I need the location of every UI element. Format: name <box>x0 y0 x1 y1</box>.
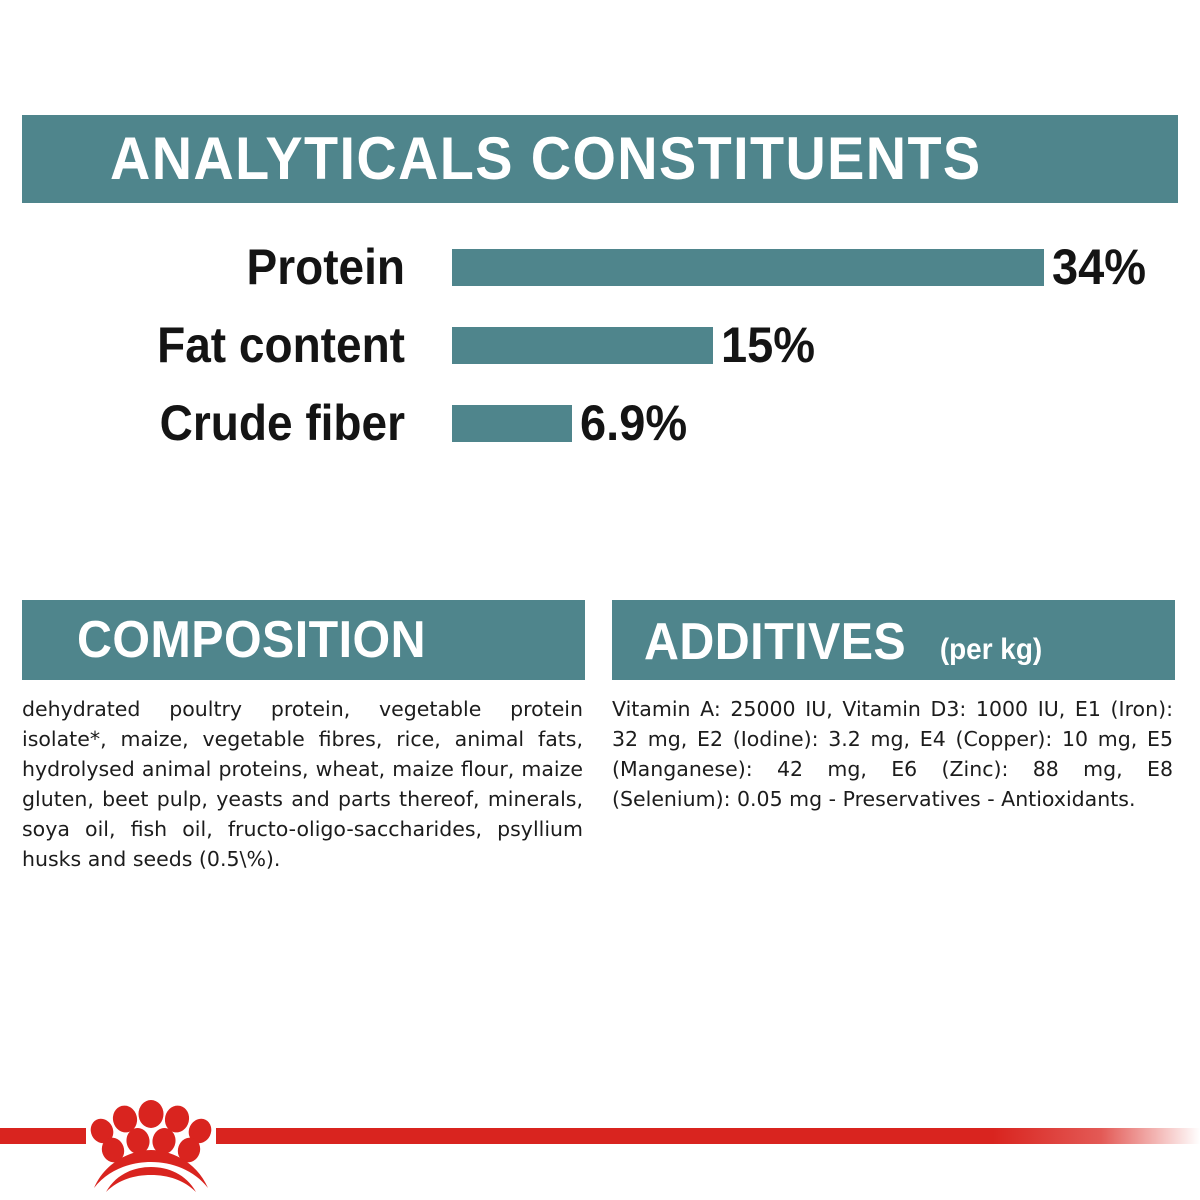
bar-row: Crude fiber 6.9% <box>0 396 1200 450</box>
page-title: ANALYTICALS CONSTITUENTS <box>110 129 982 189</box>
additives-panel: ADDITIVES (per kg) Vitamin A: 25000 IU, … <box>612 600 1175 874</box>
additives-header: ADDITIVES (per kg) <box>612 600 1175 680</box>
analyticals-constituents-banner: ANALYTICALS CONSTITUENTS <box>22 115 1178 203</box>
bar-track: 6.9% <box>452 398 694 448</box>
additives-text: Vitamin A: 25000 IU, Vitamin D3: 1000 IU… <box>612 694 1175 814</box>
info-panels: COMPOSITION dehydrated poultry protein, … <box>22 600 1178 874</box>
additives-subheading: (per kg) <box>940 635 1042 665</box>
bar-value-fat-content: 15% <box>721 320 815 370</box>
royal-canin-crown-icon <box>86 1100 216 1192</box>
footer-rule-left <box>0 1128 86 1144</box>
bar-value-protein: 34% <box>1052 242 1146 292</box>
bar-value-crude-fiber: 6.9% <box>580 398 687 448</box>
brand-footer <box>0 1100 1200 1200</box>
analyticals-bar-chart: Protein 34% Fat content 15% Crude fiber … <box>0 240 1200 474</box>
composition-text: dehydrated poultry protein, vegetable pr… <box>22 694 585 874</box>
bar-fill-protein <box>452 249 1044 286</box>
composition-heading: COMPOSITION <box>77 614 426 666</box>
bar-track: 34% <box>452 242 1152 292</box>
bar-track: 15% <box>452 320 821 370</box>
bar-row: Protein 34% <box>0 240 1200 294</box>
bar-fill-crude-fiber <box>452 405 572 442</box>
composition-panel: COMPOSITION dehydrated poultry protein, … <box>22 600 585 874</box>
composition-header: COMPOSITION <box>22 600 585 680</box>
bar-label-crude-fiber: Crude fiber <box>32 398 405 448</box>
footer-rule-right <box>216 1128 1200 1144</box>
bar-label-protein: Protein <box>32 242 405 292</box>
additives-heading: ADDITIVES <box>644 616 906 668</box>
bar-row: Fat content 15% <box>0 318 1200 372</box>
bar-fill-fat-content <box>452 327 713 364</box>
bar-label-fat-content: Fat content <box>32 320 405 370</box>
